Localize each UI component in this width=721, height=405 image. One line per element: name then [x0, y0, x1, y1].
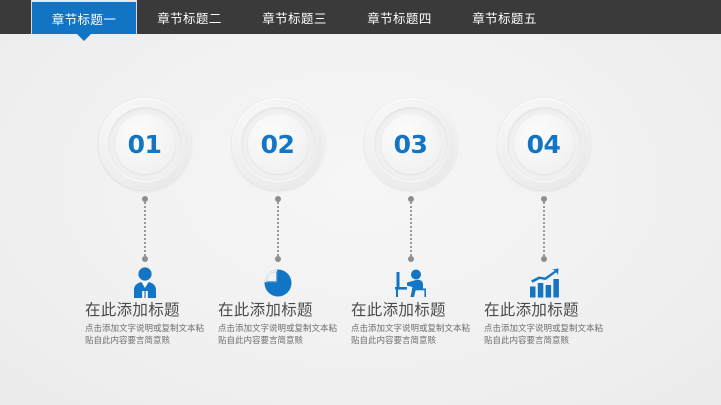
- connector-dashed-line: [144, 202, 146, 256]
- pie-chart-icon: [256, 264, 300, 298]
- step-number-4: 04: [527, 132, 561, 157]
- text-block-3: 在此添加标题 点击添加文字说明或复制文本粘贴自此内容要言简意赅: [351, 302, 477, 347]
- nav-tab-2[interactable]: 章节标题二: [137, 0, 242, 34]
- step-circle-2-inner: 02: [248, 114, 308, 174]
- step-circle-1-inner: 01: [115, 114, 175, 174]
- item-title-2: 在此添加标题: [218, 302, 344, 320]
- connector-dashed-line: [277, 202, 279, 256]
- connector-dot-bottom-icon: [275, 256, 281, 262]
- slide-canvas: 章节标题一 章节标题二 章节标题三 章节标题四 章节标题五 01: [0, 0, 721, 405]
- step-circle-3[interactable]: 03: [365, 98, 457, 190]
- growth-bar-chart-icon: [522, 264, 566, 298]
- nav-tab-1[interactable]: 章节标题一: [31, 0, 137, 34]
- connector-line-1: [142, 196, 148, 262]
- step-number-1: 01: [128, 132, 162, 157]
- connector-line-4: [541, 196, 547, 262]
- item-desc-3: 点击添加文字说明或复制文本粘贴自此内容要言简意赅: [351, 323, 477, 348]
- item-desc-2: 点击添加文字说明或复制文本粘贴自此内容要言简意赅: [218, 323, 344, 348]
- connector-dashed-line: [543, 202, 545, 256]
- step-number-2: 02: [261, 132, 295, 157]
- navbar-left-spacer: [0, 0, 31, 34]
- content-item-2: 02 在此添加标题 点击添加文字说明或复制文本粘贴自此内容要言简意赅: [210, 34, 345, 405]
- step-number-3: 03: [394, 132, 428, 157]
- step-circle-2[interactable]: 02: [232, 98, 324, 190]
- section-navbar: 章节标题一 章节标题二 章节标题三 章节标题四 章节标题五: [0, 0, 721, 34]
- connector-dot-bottom-icon: [408, 256, 414, 262]
- connector-dot-bottom-icon: [142, 256, 148, 262]
- text-block-4: 在此添加标题 点击添加文字说明或复制文本粘贴自此内容要言简意赅: [484, 302, 610, 347]
- connector-line-3: [408, 196, 414, 262]
- step-circle-1[interactable]: 01: [99, 98, 191, 190]
- item-title-3: 在此添加标题: [351, 302, 477, 320]
- step-circle-4-inner: 04: [514, 114, 574, 174]
- item-title-4: 在此添加标题: [484, 302, 610, 320]
- step-circle-4[interactable]: 04: [498, 98, 590, 190]
- nav-tab-5[interactable]: 章节标题五: [452, 0, 557, 34]
- connector-dot-bottom-icon: [541, 256, 547, 262]
- content-columns: 01 在此添加标题 点击添加文字说明或复制文本粘贴自此内容要: [0, 34, 721, 405]
- item-title-1: 在此添加标题: [85, 302, 211, 320]
- nav-tab-1-label: 章节标题一: [52, 9, 117, 28]
- nav-tab-3[interactable]: 章节标题三: [242, 0, 347, 34]
- text-block-1: 在此添加标题 点击添加文字说明或复制文本粘贴自此内容要言简意赅: [85, 302, 211, 347]
- nav-tab-4[interactable]: 章节标题四: [347, 0, 452, 34]
- businessman-icon: [123, 264, 167, 298]
- item-desc-4: 点击添加文字说明或复制文本粘贴自此内容要言简意赅: [484, 323, 610, 348]
- nav-tab-5-label: 章节标题五: [472, 8, 537, 27]
- person-at-desk-icon: [389, 264, 433, 298]
- item-desc-1: 点击添加文字说明或复制文本粘贴自此内容要言简意赅: [85, 323, 211, 348]
- content-item-3: 03 在此添加标题: [343, 34, 478, 405]
- connector-line-2: [275, 196, 281, 262]
- content-item-4: 04 在此添加标题 点击添加文字说明或复制文本粘贴自此内容要: [476, 34, 611, 405]
- step-circle-3-inner: 03: [381, 114, 441, 174]
- nav-tab-4-label: 章节标题四: [367, 8, 432, 27]
- connector-dashed-line: [410, 202, 412, 256]
- content-item-1: 01 在此添加标题 点击添加文字说明或复制文本粘贴自此内容要: [77, 34, 212, 405]
- nav-tab-3-label: 章节标题三: [262, 8, 327, 27]
- text-block-2: 在此添加标题 点击添加文字说明或复制文本粘贴自此内容要言简意赅: [218, 302, 344, 347]
- nav-tab-2-label: 章节标题二: [157, 8, 222, 27]
